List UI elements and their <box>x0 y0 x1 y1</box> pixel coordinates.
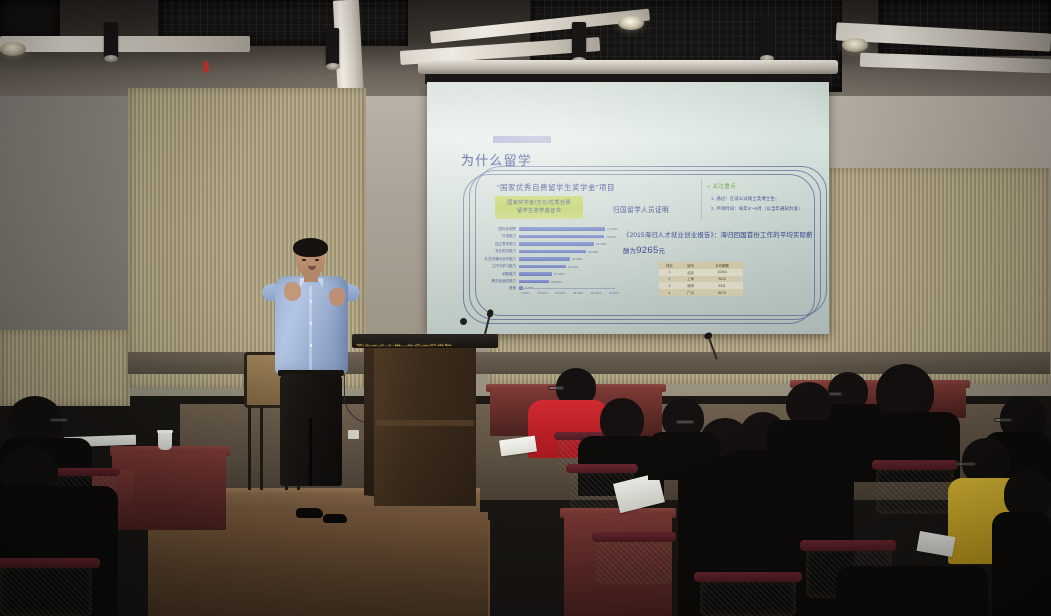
chart-x-axis <box>521 288 615 289</box>
chart-bar <box>519 257 570 261</box>
table-row: 2 上海 9843 <box>659 276 743 283</box>
chart-tick: 30.00% <box>555 291 565 295</box>
table-header-cell: 排名 <box>659 262 680 269</box>
table-cell: 8679 <box>701 289 743 296</box>
chart-category-label: 外语能力 <box>481 234 519 239</box>
slide-middle-label: 归国留学人员证明 <box>613 204 669 214</box>
chart-bar <box>519 250 586 254</box>
speaker-shirt-button <box>310 300 313 303</box>
table-row: 4 广州 8679 <box>659 289 743 296</box>
table-cell: 9311 <box>701 282 743 289</box>
slide-accent-bar <box>493 136 551 143</box>
table-header-row: 排名 城市 平均薪酬 <box>659 262 743 269</box>
chart-bar-value: 24.60% <box>551 280 562 284</box>
highlight-line-1: 国家奖学金/万元/优秀自费 <box>507 200 571 207</box>
chart-bar-value: 42.60% <box>572 257 583 261</box>
chart-bar <box>519 265 566 269</box>
podium-sub-text: NORTHWESTERN POLYTECHNICAL UNIVERSITY <box>358 345 433 348</box>
auditorium-seat <box>876 468 954 514</box>
audience-body <box>836 566 988 616</box>
speaker-left-hand <box>284 282 301 301</box>
chart-tick: 0.00% <box>521 291 530 295</box>
stat-value: 9265 <box>636 245 658 256</box>
chart-bar-value: 55.40% <box>588 250 599 254</box>
chart-tick: 75.00% <box>609 291 619 295</box>
chart-category-label: 其他 <box>481 286 519 291</box>
chart-bar <box>519 235 604 239</box>
spotlight <box>0 42 26 56</box>
auditorium-seat <box>596 540 672 584</box>
screen-roller-housing <box>418 60 838 74</box>
roller-indicator-icon <box>204 62 208 72</box>
chart-bar <box>519 242 594 246</box>
highlight-line-2: 留学生奖学金证书 <box>517 208 561 215</box>
table-cell: 广州 <box>680 289 701 296</box>
seat-rail <box>48 468 120 476</box>
paper-cup <box>158 430 172 450</box>
table-cell: 1 <box>659 269 680 276</box>
chart-bar <box>519 272 552 276</box>
chart-category-label: 创新能力 <box>481 272 519 277</box>
ceiling-panel <box>0 0 60 40</box>
ceiling-beam <box>0 36 250 52</box>
table-cell: 深圳 <box>680 282 701 289</box>
chart-bar-value: 70.50% <box>606 235 617 239</box>
table-cell: 3 <box>659 282 680 289</box>
audience-glasses-icon <box>548 386 564 390</box>
table-row: 3 深圳 9311 <box>659 282 743 289</box>
downlight <box>104 22 118 58</box>
downlight <box>760 18 773 58</box>
stat-unit: 元 <box>659 248 666 255</box>
audience-glasses-icon <box>50 418 68 422</box>
speaker-right-hand <box>329 288 345 306</box>
table-cell: 上海 <box>680 276 701 283</box>
seat-rail <box>800 540 896 551</box>
table-cell: 4 <box>659 289 680 296</box>
table-row: 1 北京 10364 <box>659 269 743 276</box>
spotlight <box>842 38 868 52</box>
chart-bar-value: 62.30% <box>596 242 607 246</box>
speaker-shirt-placket <box>309 286 312 372</box>
green-heading-text: 关注重点 <box>712 184 736 190</box>
chart-category-label: 跨文化适应能力 <box>481 279 519 284</box>
chart-bar <box>519 280 549 284</box>
podium-body <box>374 348 476 506</box>
chart-tick: 45.00% <box>573 291 583 295</box>
slide-highlight-box: 国家奖学金/万元/优秀自费 留学生奖学金证书 <box>495 196 583 219</box>
seat-rail <box>694 572 802 582</box>
audience-glasses-icon <box>956 462 976 466</box>
seat-rail <box>566 464 638 473</box>
speaker-right-shoe <box>323 514 347 523</box>
chart-bar-value: 71.10% <box>607 227 618 231</box>
presentation-slide: 为什么留学 “国家优秀自费留学生奖学金”项目 国家奖学金/万元/优秀自费 留学生… <box>435 114 821 302</box>
auditorium-seat <box>700 580 796 616</box>
chart-category-label: 专业知识能力 <box>481 249 519 254</box>
audience-glasses-icon <box>676 420 694 424</box>
projection-screen: 为什么留学 “国家优秀自费留学生奖学金”项目 国家奖学金/万元/优秀自费 留学生… <box>427 82 829 334</box>
slide-green-heading: »关注重点 <box>707 182 736 190</box>
lecture-hall-photo: LUMINA 为什么留学 “国家优秀自费留学生奖学金”项目 国家奖学金/万元/优… <box>0 0 1051 616</box>
podium-shelf <box>376 420 474 426</box>
audience-body <box>992 512 1051 616</box>
slide-stat-text: 《2015海归人才就业创业报告》：海归回国首份工作的平均实际薪酬为9265元 <box>623 230 819 261</box>
table-cell: 2 <box>659 276 680 283</box>
stat-prefix: 《2015海归人才就业创业报告》：海归回国首份 <box>623 232 760 239</box>
downlight <box>326 28 339 66</box>
floor-outlet <box>348 430 359 439</box>
speaker-hair <box>293 238 328 257</box>
speaker-shirt-button <box>310 322 313 325</box>
table-header-cell: 城市 <box>680 262 701 269</box>
chart-category-label: 独立思考能力 <box>481 242 519 247</box>
chart-tick: 15.00% <box>537 291 547 295</box>
speaker-eye <box>302 259 306 261</box>
slide-divider <box>701 178 702 220</box>
table-cell: 北京 <box>680 269 701 276</box>
audience-head <box>1004 470 1051 518</box>
chart-bar-value: 39.10% <box>568 265 579 269</box>
auditorium-seat <box>0 566 92 616</box>
speaker-left-shoe <box>296 508 323 518</box>
green-list-item: 1. 通过：在读公派硕士及博士生； <box>711 194 813 204</box>
speaker-eye <box>315 259 319 261</box>
seat-rail <box>592 532 676 542</box>
wall-wood-panel <box>0 330 130 406</box>
seat-rail <box>0 558 100 568</box>
audience-body <box>648 432 720 480</box>
green-list-item: 2. 申请时间：每年3～5月（以当年通知为准） <box>711 204 813 214</box>
chart-category-label: 国际化视野 <box>481 227 519 232</box>
chart-x-ticks: 0.00% 15.00% 30.00% 45.00% 60.00% 75.00% <box>521 291 619 295</box>
competitiveness-bar-chart: 国际化视野 71.10% 外语能力 70.50% 独立思考能力 62.30% 专… <box>481 226 617 302</box>
chart-tick: 60.00% <box>591 291 601 295</box>
chart-category-label: 工作与学习能力 <box>481 264 519 269</box>
seat-rail <box>872 460 958 470</box>
downlight <box>572 22 586 60</box>
table-cell: 9843 <box>701 276 743 283</box>
slide-frame-dot-icon <box>460 318 467 325</box>
salary-table: 排名 城市 平均薪酬 1 北京 10364 2 上海 9843 <box>659 262 743 296</box>
speaker-leg-separation <box>309 418 312 486</box>
speaker-shirt-button <box>310 344 313 347</box>
audience-glasses-icon <box>994 418 1012 422</box>
quote-icon: » <box>707 184 710 190</box>
slide-green-list: 1. 通过：在读公派硕士及博士生； 2. 申请时间：每年3～5月（以当年通知为准… <box>711 194 813 214</box>
chart-bar-value: 27.30% <box>554 272 565 276</box>
chart-category-label: 社交沟通与合作能力 <box>481 257 519 262</box>
table-header-cell: 平均薪酬 <box>701 262 743 269</box>
spotlight <box>618 16 644 30</box>
table-cell: 10364 <box>701 269 743 276</box>
slide-project-heading: “国家优秀自费留学生奖学金”项目 <box>497 182 615 193</box>
chart-bar <box>519 227 605 231</box>
